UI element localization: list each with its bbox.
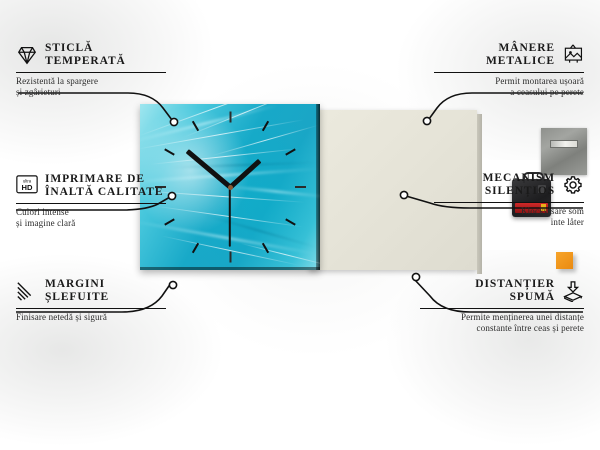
- callout-distantier-spuma: DISTANȚIER SPUMĂ Permite menținerea unei…: [420, 278, 584, 334]
- hour-tick: [229, 112, 231, 123]
- glass-bottom-edge: [140, 267, 320, 270]
- callout-title-line2: ȘLEFUITE: [45, 291, 109, 303]
- callout-sub-line2: inte låter: [551, 217, 584, 227]
- callout-sub-line1: Rezistentă la spargere: [16, 76, 98, 86]
- metal-hanger-plate: [541, 128, 587, 175]
- callout-title-line2: METALICE: [486, 55, 555, 67]
- connector-dot-edges: [169, 281, 176, 288]
- gear-icon: [562, 174, 584, 196]
- glass-right-edge: [316, 104, 320, 270]
- hanger-slot: [550, 140, 578, 148]
- callout-manere-metalice: MÂNERE METALICE Permit montarea ușoară a…: [434, 42, 584, 98]
- infographic-canvas: STICLĂ TEMPERATĂ Rezistentă la spargere …: [0, 0, 600, 400]
- callout-title-line1: MECANISM: [483, 172, 555, 184]
- callout-rule: [434, 72, 584, 73]
- callout-rule: [434, 202, 584, 203]
- beveled-edge-icon: [16, 280, 38, 302]
- callout-title-line1: DISTANȚIER: [475, 278, 555, 290]
- callout-title-line2: SILENȚIOS: [485, 185, 555, 197]
- foam-spacer-icon: [562, 280, 584, 302]
- clock-face: [140, 104, 320, 270]
- callout-rule: [420, 308, 584, 309]
- callout-sticla-temperata: STICLĂ TEMPERATĂ Rezistentă la spargere …: [16, 42, 166, 98]
- callout-sub-line2: constante între ceas și perete: [477, 323, 584, 333]
- svg-text:HD: HD: [22, 183, 33, 192]
- callout-title-line1: MÂNERE: [498, 42, 555, 54]
- callout-sub-line1: Permite menținerea unei distanțe: [461, 312, 584, 322]
- callout-title-line2: SPUMĂ: [510, 291, 555, 303]
- picture-frame-hanger-icon: [562, 44, 584, 66]
- callout-rule: [16, 203, 166, 204]
- foam-spacer: [556, 252, 573, 269]
- callout-margini-slefuite: MARGINI ȘLEFUITE Finisare netedă și sigu…: [16, 278, 166, 323]
- second-hand: [229, 187, 231, 247]
- callout-mecanism-silentios: MECANISM SILENȚIOS Klockvisare som inte …: [434, 172, 584, 228]
- callout-title-line1: MARGINI: [45, 278, 105, 290]
- callout-sub-line2: și imagine clară: [16, 218, 75, 228]
- ultra-hd-icon: ultra HD: [16, 175, 38, 197]
- callout-title-line2: ÎNALTĂ CALITATE: [45, 186, 163, 198]
- diamond-icon: [16, 44, 38, 66]
- callout-sub-line2: a ceasului pe perete: [510, 87, 584, 97]
- hour-tick: [164, 148, 175, 155]
- hour-tick: [191, 242, 198, 253]
- hour-tick: [229, 252, 231, 263]
- callout-rule: [16, 308, 166, 309]
- callout-title-line1: IMPRIMARE DE: [45, 173, 145, 185]
- clock-hub: [228, 185, 233, 190]
- callout-sub-line1: Culori intense: [16, 207, 69, 217]
- hour-tick: [295, 186, 306, 188]
- callout-sub-line1: Permit montarea ușoară: [495, 76, 584, 86]
- callout-title-line2: TEMPERATĂ: [45, 55, 126, 67]
- callout-rule: [16, 72, 166, 73]
- product-photo: [140, 104, 477, 276]
- callout-title-line1: STICLĂ: [45, 42, 93, 54]
- callout-sub-line2: și zgârieturi: [16, 87, 61, 97]
- callout-sub-line1: Klockvisare som: [521, 206, 584, 216]
- callout-imprimare-inalta-calitate: ultra HD IMPRIMARE DE ÎNALTĂ CALITATE Cu…: [16, 173, 166, 229]
- callout-sub-line1: Finisare netedă și sigură: [16, 312, 107, 322]
